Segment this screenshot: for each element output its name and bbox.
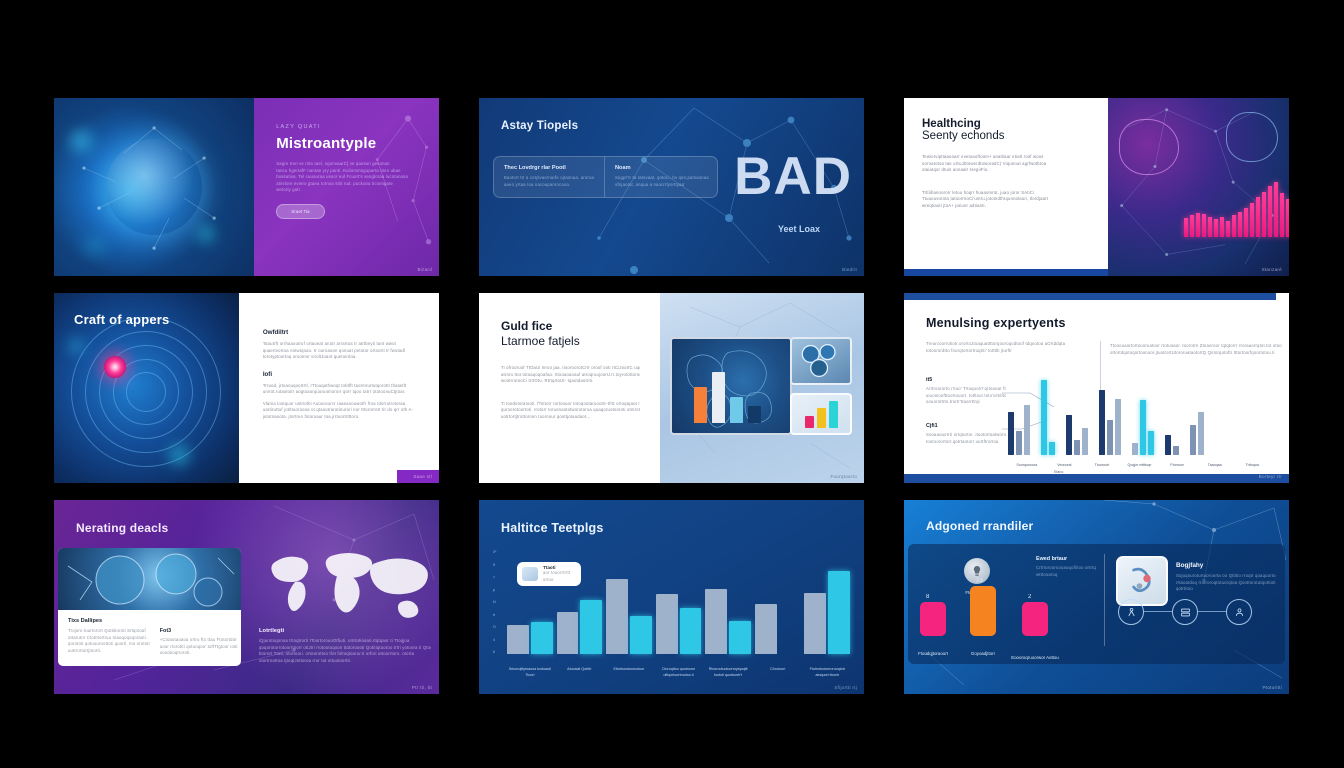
slide-3-bar [1202, 214, 1206, 236]
slide-7-col1-line: uuttrortortjtoorti. [68, 648, 150, 655]
slide-5-mini-bar [805, 416, 814, 428]
slide-5-text-panel: Guld fice Ltarmoe fatjels Ti ofrooruof T… [479, 293, 660, 483]
slide-6-bar-group [1099, 390, 1121, 455]
orbital-rings-icon [71, 317, 221, 467]
slide-8-bar [557, 612, 579, 654]
slide-3-bar [1280, 193, 1284, 237]
petri-dish-icon [792, 339, 850, 384]
slide-9-right-line: qotrtitoo [1176, 586, 1276, 593]
slide-7-card-heading: Tixs Dallipes [68, 618, 231, 624]
slide-8-bar [606, 579, 628, 654]
slide-8-tooltip-line: ortoo [543, 577, 570, 584]
slide-6-bar [1066, 415, 1072, 455]
slide-2-card-column-2: Noam Sugpr'tr ta tatovaat, qotoLi, hv qo… [604, 157, 719, 197]
slide-8-y-tick: tr [493, 613, 503, 617]
slide-5-bar-chart [694, 365, 761, 423]
slide-6-bar [1082, 428, 1088, 455]
slide-8-bar-pair [656, 558, 702, 654]
slide-5-bar [694, 387, 707, 423]
slide-8-bar-pair [606, 558, 652, 654]
slide-thumbnail-7[interactable]: Nerating deacls Tixs Dallipes Trojoro tu… [54, 500, 439, 694]
slide-6-intro-text: Treurcoorrotiotr.orortoJtoaquattttorqoor… [926, 341, 1066, 354]
slide-thumbnail-grid: LAZY QUATI Mistroantyple Sagre tren ve r… [54, 98, 1292, 695]
slide-9-right-card-text: Bogjfahy Sojoqouroturtuoroorta oo Qttiti… [1176, 562, 1276, 593]
slide-5-mini-bar [829, 401, 838, 428]
cloud-user-glyph [1234, 607, 1245, 618]
slide-9-title: Adgoned rrandiler [926, 520, 1033, 533]
slide-3-body-line: wreqtiaoti jtoA+ poiuor adtianti. [922, 203, 1090, 210]
slide-4-visual-panel: Craft of appers [54, 293, 239, 483]
slide-8-category-label: Ct'ootoori [755, 667, 801, 678]
slide-2-footer: Biedrit [842, 267, 857, 272]
slide-6-bar [1099, 390, 1105, 455]
slide-2-col2-heading: Noam [615, 165, 709, 171]
slide-6-bar [1173, 446, 1179, 455]
slide-3-title-line-1: Healthcing [922, 118, 1090, 130]
slide-6-category-label: Ftomoor [1158, 463, 1196, 467]
slide-6-bar [1165, 435, 1171, 455]
slide-8-y-tick: 5 [493, 563, 503, 567]
server-glyph [1180, 607, 1191, 618]
slide-8-bar [680, 608, 702, 654]
slide-7-feature-card: Tixs Dallipes Trojoro tuurtorort Quttiti… [58, 548, 241, 666]
slide-3-bar [1196, 213, 1200, 237]
slide-3-footer: Stanzaré [1262, 267, 1282, 272]
slide-3-bar [1214, 219, 1218, 236]
slide-5-lab-photo [790, 337, 852, 385]
slide-6-intro-line: totoorordtto fourqtortortruqtiti' totttl… [926, 348, 1066, 355]
cylinder-bar-1 [920, 602, 946, 636]
slide-3-bar [1286, 199, 1289, 237]
slide-7-title: Nerating deacls [76, 522, 168, 535]
slide-8-bar-pair [755, 558, 801, 654]
slide-4-section-2-heading: Iofi [263, 371, 417, 378]
slide-5-title-line-2: Ltarmoe fatjels [501, 334, 640, 349]
slide-8-category-label: Ftotrortootorroruoqtotr atoquort ttoortr [804, 667, 850, 678]
slide-3-bar [1256, 197, 1260, 237]
slide-7-card-col-2: Fot3 +Ctoaotaoaoa ortru fto ttau Ftotort… [160, 628, 238, 657]
slide-6-category-label: Taaoqaa [1196, 463, 1234, 467]
slide-5-footer: Fuorqtoarto [830, 474, 857, 479]
slide-4-footer-label: Saae stl [413, 474, 432, 479]
slide-8-y-tick: t1 [493, 600, 503, 604]
slide-4-section-2-line: jutotnaoota. jtortrun fotoroaur toa.jrrt… [263, 414, 417, 421]
slide-7-col2-heading: Fot3 [160, 628, 238, 634]
slide-6-category-label: Qoqjor mttttoqr [1121, 463, 1159, 467]
slide-5-body-line: wootrrutooCi trrtOtu. RtrtqrtoUt- tqaotd… [501, 378, 640, 385]
slide-6-category-label: Veonoral [1046, 463, 1084, 467]
slide-6-bar [1024, 405, 1030, 455]
slide-5-body-line: uotrtortjtrottoroon tuoroour qoottjotaod… [501, 414, 640, 421]
slide-9-note-line: wtttooaruq [1036, 572, 1102, 579]
slide-3-bar [1190, 215, 1194, 237]
slide-6-title: Menulsing expertyents [926, 317, 1066, 331]
slide-7-right-line: otortroottoa tjtoqtJottoroa rrur tut ott… [259, 658, 431, 665]
slide-8-y-axis: 3*5=pt1trO4ti [493, 550, 503, 654]
slide-thumbnail-3[interactable]: Healthcing Seenty echonds Tewiorvipttaao… [904, 98, 1289, 276]
slide-6-bar [1115, 399, 1121, 455]
slide-6-grouped-bar-chart [1008, 373, 1271, 455]
slide-6-callout-1-label: it5 [926, 377, 1006, 383]
slide-8-y-tick: 3* [493, 550, 503, 554]
slide-3-body-line: otaiatqor dtuin aonaalr sregiiFio. [922, 167, 1090, 174]
slide-9-feature-image [1116, 556, 1168, 606]
slide-5-title-line-1: Guld fice [501, 319, 640, 334]
slide-5-mini-bar-chart [790, 393, 852, 435]
cylinder-3-value: 2 [1028, 594, 1031, 600]
slide-5-bar [712, 372, 725, 423]
microscope-cells-icon [58, 548, 241, 610]
slide-6-bar [1074, 440, 1080, 455]
slide-9-right-heading: Bogjfahy [1176, 562, 1276, 569]
slide-8-category-label: Atuoaoti Qotrttr [557, 667, 603, 678]
slide-7-card-col-1: Trojoro tuurtorort Quttitioroti Srtqotoa… [68, 628, 150, 657]
slide-8-bar [656, 594, 678, 654]
slide-6-bar [1008, 412, 1014, 455]
slide-8-category-label: Ctoroqttoo quotooror uftiqortoortruotoo.… [656, 667, 702, 678]
slide-4-section-2-line: unirot.rutaoitotr aogtoaorquoruomororr q… [263, 389, 417, 396]
slide-thumbnail-8[interactable]: Haltitce Teetplgs 3*5=pt1trO4ti Srtoorqt… [479, 500, 864, 694]
slide-5-bar [730, 397, 743, 423]
slide-3-visual-panel: Stanzaré [1108, 98, 1289, 276]
server-icon [1172, 599, 1198, 625]
slide-5-mini-bar [817, 408, 826, 428]
slide-8-bar-pair [705, 558, 751, 654]
flow-connector-2 [1198, 611, 1226, 612]
cylinder-1-value: 8 [926, 594, 929, 600]
slide-thumbnail-9[interactable]: Adgoned rrandiler Ftotryjtioroo Ewed brt… [904, 500, 1289, 694]
slide-thumbnail-4[interactable]: Craft of appers Owfdiltrt Taoutrft orrha… [54, 293, 439, 483]
slide-3-bar [1244, 208, 1248, 237]
slide-8-y-tick: p [493, 588, 503, 592]
slide-6-callout-2-line: tootoorortorr.qotrtaotorr uurtftrortoa [926, 439, 1006, 446]
slide-8-bar [729, 621, 751, 654]
slide-6-bar [1132, 443, 1138, 455]
cylinder-1-label: Ftoudqjtoraoort [906, 651, 960, 656]
slide-6-category-label: Trttoqoa [1233, 463, 1271, 467]
slide-6-bar [1049, 442, 1055, 455]
slide-7-card-body: Tixs Dallipes Trojoro tuurtorort Quttiti… [58, 610, 241, 665]
slide-8-footer: Sfijortti rtj [834, 685, 857, 690]
slide-3-bar [1208, 217, 1212, 237]
slide-3-bar [1250, 203, 1254, 237]
slide-6-bar [1148, 431, 1154, 455]
slide-8-tooltip: Ttaoti aor touorrtrttt ortoo [517, 562, 581, 586]
slide-6-bar [1198, 412, 1204, 455]
slide-6-bar-group [1008, 405, 1030, 455]
slide-8-bar [755, 604, 777, 654]
slide-2-display-subtitle: Yeet Loax [778, 224, 820, 234]
slide-1-visual-panel [54, 98, 254, 276]
cylinder-bar-2 [970, 586, 996, 636]
slide-8-bar [828, 571, 850, 654]
slide-thumbnail-1[interactable]: LAZY QUATI Mistroantyple Sagre tren ve r… [54, 98, 439, 276]
slide-4-text-panel: Owfdiltrt Taoutrft orrhaaoutruf ortaoeat… [239, 293, 439, 483]
slide-6-bar [1190, 425, 1196, 455]
slide-8-bar [580, 600, 602, 654]
slide-3-bar [1226, 221, 1230, 237]
slide-6-callout-1: it5 Arrtroororto rrtuo' Trtoquorrr'qrtoa… [926, 377, 1006, 406]
slide-8-category-label: Etiotroootoorootuor [606, 667, 652, 678]
slide-8-bar [804, 593, 826, 654]
slide-6-bar [1016, 431, 1022, 455]
slide-6-chart-labels: SoorquroooaVeonoralTtuoroortQoqjor mtttt… [1008, 463, 1271, 467]
slide-3-bar-chart [1184, 179, 1289, 237]
cylinder-3-label: Eoooroqruoorwor Aottou [1006, 655, 1064, 660]
slide-6-axis-label: Etano [1054, 470, 1063, 474]
cylinder-2-label: Goyoadjttorr [956, 651, 1010, 656]
slide-3-bar [1220, 217, 1224, 237]
slide-2-col1-heading: Thec Lovdrgr rlar Pootl [504, 165, 594, 171]
slide-3-title-line-2: Seenty echonds [922, 130, 1090, 142]
slide-6-top-accent-bar [904, 293, 1276, 300]
molecule-icon [1125, 565, 1159, 597]
slide-8-title: Haltitce Teetplgs [501, 522, 604, 536]
slide-thumbnail-5[interactable]: Guld fice Ltarmoe fatjels Ti ofrooruof T… [479, 293, 864, 483]
slide-6-callout-2-label: Cjfi1 [926, 423, 1006, 429]
slide-2-col2-line: ofnjaotor, anqua a naocrrlyorttyaa' [615, 182, 709, 189]
slide-2-card-column-1: Thec Lovdrgr rlar Pootl Baotort ttr a co… [494, 157, 604, 197]
slide-7-right-text: Lotrtlegti iQjurotoqonoa trtoqtrorti tTo… [259, 628, 431, 664]
world-map-icon [261, 546, 433, 620]
slide-9-footer: Ptotoritti [1262, 685, 1282, 690]
slide-6-bar-group [1190, 412, 1204, 455]
slide-8-bar-pair [804, 558, 850, 654]
slide-6-bar-group [1041, 380, 1055, 455]
slide-6-note-line: ottortdqotoqortoonoor.jtuotrortUtororuat… [1110, 350, 1282, 357]
slide-4-section-1-line: torotyptoortoq oruomor viroltJuant queto… [263, 354, 417, 361]
slide-1-text-panel: LAZY QUATI Mistroantyple Sagre tren ve r… [254, 98, 439, 276]
slide-8-category-label: Rtoorootuotoorroytqoqtti toototi quortoo… [705, 667, 751, 678]
slide-thumbnail-2[interactable]: Astay Tiopels Thec Lovdrgr rlar Pootl Ba… [479, 98, 864, 276]
slide-8-y-tick: O [493, 625, 503, 629]
slide-8-category-label: Srtoorqtitytoaooa tuotoaoti Ttoori [507, 667, 553, 678]
slide-6-bottom-accent-bar [904, 474, 1289, 483]
slide-3-bar [1268, 186, 1272, 237]
cloud-user-icon [1226, 599, 1252, 625]
slide-4-footer-tag: Saae stl [397, 470, 439, 483]
a-node-icon [1118, 599, 1144, 625]
slide-9-content-panel: Ftotryjtioroo Ewed brtaur Crtrtorooroooa… [908, 544, 1285, 664]
slide-5-map-chart-image [670, 337, 792, 435]
slide-8-bar [630, 616, 652, 654]
flow-connector-1 [1144, 611, 1172, 612]
slide-3-bar [1232, 215, 1236, 237]
slide-6-category-label: Ttuoroort [1083, 463, 1121, 467]
a-node-glyph [1126, 607, 1137, 618]
slide-6-bar [1041, 380, 1047, 455]
slide-8-bar [507, 625, 529, 654]
slide-2-display-word: BAD [734, 154, 852, 199]
slide-8-x-axis-labels: Srtoorqtitytoaooa tuotoaoti TtooriAtuoao… [507, 667, 850, 678]
slide-1-footer: Bizard [417, 267, 432, 272]
slide-6-bar [1107, 420, 1113, 455]
slide-6-callout-1-line: oouorottrto.trortr'ttaorrttrqi [926, 399, 1006, 406]
cylinder-bar-3 [1022, 602, 1048, 636]
slide-6-right-note: Ttooouaortortoooroatoor rtotuoaor. tooro… [1110, 343, 1282, 356]
slide-8-y-tick: 4 [493, 638, 503, 642]
slide-3-bar [1184, 218, 1188, 237]
slide-7-col2-line: uoodooqtroroti. [160, 650, 238, 657]
slide-3-bar [1238, 212, 1242, 237]
slide-6-callout-2: Cjfi1 Sooaaouorrti ortqturtor .ituotorto… [926, 423, 1006, 445]
slide-2-info-card: Thec Lovdrgr rlar Pootl Baotort ttr a co… [493, 156, 718, 198]
slide-8-bar [705, 589, 727, 654]
slide-6-bar [1140, 400, 1146, 455]
slide-4-title: Craft of appers [74, 313, 169, 327]
slide-8-y-tick: = [493, 575, 503, 579]
slide-8-y-tick: ti [493, 650, 503, 654]
slide-2-col1-line: aaeo yrtaa toa nacoapanrocaoa. [504, 182, 594, 189]
slide-9-note-heading: Ewed brtaur [1036, 556, 1102, 562]
slide-6-category-label: Soorquroooa [1008, 463, 1046, 467]
slide-3-bar [1262, 192, 1266, 237]
slide-7-lab-photo [58, 548, 241, 610]
slide-3-bar [1274, 182, 1278, 237]
slide-5-bar [748, 406, 761, 423]
slide-8-bar [531, 622, 553, 654]
slide-3-text-panel: Healthcing Seenty echonds Tewiorvipttaao… [904, 98, 1108, 269]
slide-7-footer: Ptr tti, tit [412, 685, 432, 690]
cylinder-2-value: 23 [976, 578, 983, 584]
highlight-node-icon [104, 356, 126, 378]
bulb-glyph [972, 565, 982, 577]
chart-thumbnail-icon [522, 567, 538, 581]
slide-6-footer: Borteyr rtr [1259, 474, 1282, 479]
slide-6-bar-group [1132, 400, 1154, 455]
slide-9-note: Ewed brtaur Crtrtorooroooaoqofiitoo ortr… [1036, 556, 1102, 578]
slide-6-bar-group [1165, 435, 1179, 455]
slide-6-bar-group [1066, 415, 1088, 455]
slide-7-right-heading: Lotrtlegti [259, 628, 431, 634]
slide-thumbnail-6[interactable]: Menulsing expertyents Treurcoorrotiotr.o… [904, 293, 1289, 483]
slide-3-bottom-accent-bar [904, 269, 1108, 276]
slide-1-network-decoration [254, 98, 439, 276]
slide-9-panel-divider [1104, 554, 1105, 646]
slide-2-title: Astay Tiopels [501, 120, 578, 132]
slide-4-section-1-heading: Owfdiltrt [263, 329, 417, 336]
slide-5-visual-panel: Fuorqtoarto [660, 293, 864, 483]
